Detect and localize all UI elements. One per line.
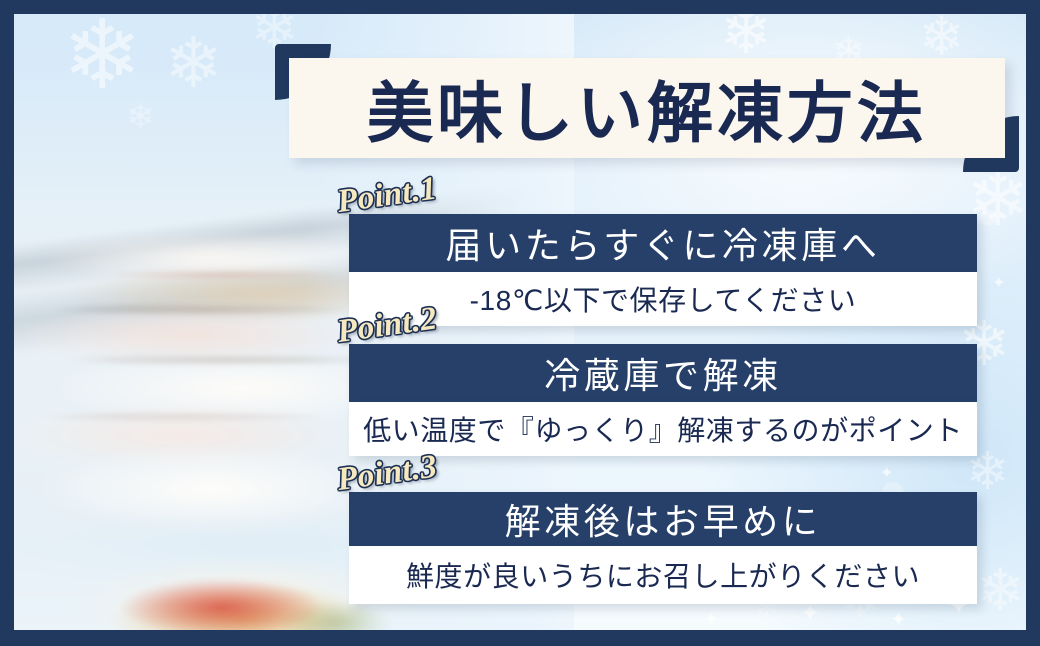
content-canvas: ❄ ❄ ❄ ❄ ❄ ❄ ❄ ❄ ❄ ❄ ❄ ❄ ❄ ❄ ❄ ❄ ❄ ❄ ✦ ✦ … [14, 14, 1026, 630]
point-card-3-body: 鮮度が良いうちにお召し上がりください [349, 546, 977, 604]
point-card-2-header: Point.2 冷蔵庫で解凍 [349, 344, 977, 402]
point-card-1-body: -18℃以下で保存してください [349, 272, 977, 326]
point-card-3-body-text: 鮮度が良いうちにお召し上がりください [406, 555, 920, 595]
point-card-1: Point.1 届いたらすぐに冷凍庫へ -18℃以下で保存してください [349, 214, 977, 326]
point-card-2-body: 低い温度で『ゆっくり』解凍するのがポイント [349, 402, 977, 456]
page-title: 美味しい解凍方法 [367, 60, 927, 156]
point-card-3-heading: 解凍後はお早めに [505, 493, 822, 545]
title-banner: 美味しい解凍方法 [275, 44, 1019, 172]
title-plate: 美味しい解凍方法 [289, 58, 1005, 158]
point-card-2-heading: 冷蔵庫で解凍 [544, 347, 782, 399]
point-card-3-header: Point.3 解凍後はお早めに [349, 492, 977, 546]
point-card-3: Point.3 解凍後はお早めに 鮮度が良いうちにお召し上がりください [349, 492, 977, 604]
point-card-2-body-text: 低い温度で『ゆっくり』解凍するのがポイント [363, 409, 963, 449]
point-card-1-body-text: -18℃以下で保存してください [470, 279, 857, 319]
point-card-1-heading: 届いたらすぐに冷凍庫へ [446, 217, 881, 269]
infographic-root: ❄ ❄ ❄ ❄ ❄ ❄ ❄ ❄ ❄ ❄ ❄ ❄ ❄ ❄ ❄ ❄ ❄ ❄ ✦ ✦ … [0, 0, 1040, 646]
point-card-2: Point.2 冷蔵庫で解凍 低い温度で『ゆっくり』解凍するのがポイント [349, 344, 977, 456]
point-card-1-header: Point.1 届いたらすぐに冷凍庫へ [349, 214, 977, 272]
